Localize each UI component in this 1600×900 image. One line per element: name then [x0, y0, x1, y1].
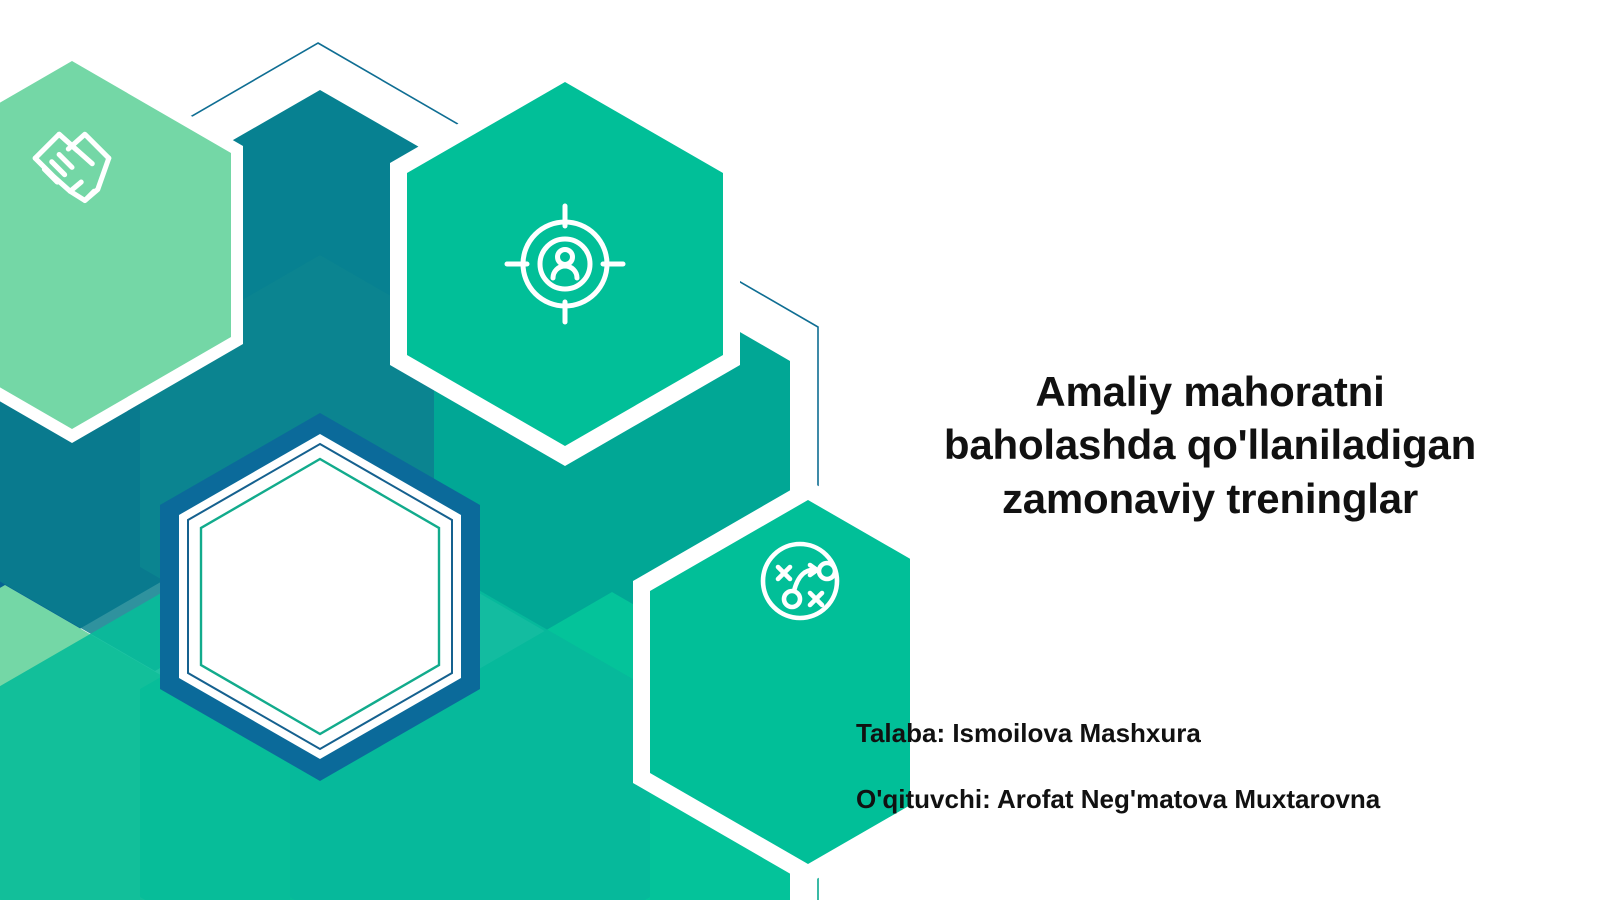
teacher-name-line: O'qituvchi: Arofat Neg'matova Muxtarovna: [856, 784, 1380, 815]
title-line-2: baholashda qo'llaniladigan: [850, 418, 1570, 471]
title-line-1: Amaliy mahoratni: [850, 365, 1570, 418]
hexagon-decoration: [0, 0, 910, 900]
slide-canvas: Amaliy mahoratni baholashda qo'llaniladi…: [0, 0, 1600, 900]
slide-title: Amaliy mahoratni baholashda qo'llaniladi…: [850, 365, 1570, 525]
text-column: Amaliy mahoratni baholashda qo'llaniladi…: [840, 0, 1600, 900]
title-line-3: zamonaviy treninglar: [850, 472, 1570, 525]
student-name-line: Talaba: Ismoilova Mashxura: [856, 718, 1201, 749]
